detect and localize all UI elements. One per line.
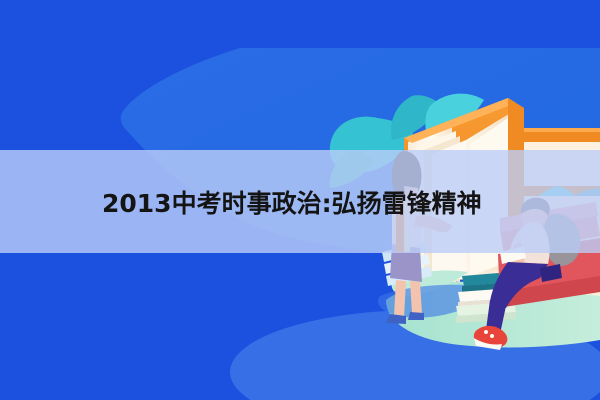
article-banner-image: 2013中考时事政治:弘扬雷锋精神 [0,0,600,400]
page-title: 2013中考时事政治:弘扬雷锋精神 [0,150,600,253]
